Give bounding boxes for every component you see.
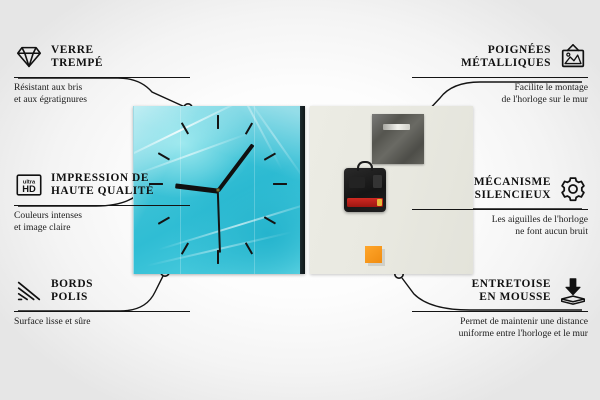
feature-impression-haute-qualite: ultra HD IMPRESSION DE HAUTE QUALITÉ Cou…: [14, 168, 190, 233]
clock-side-edge: [300, 106, 305, 274]
feature-subtitle: Résistant aux bris et aux égratignures: [14, 82, 190, 105]
feature-title: IMPRESSION DE HAUTE QUALITÉ: [51, 172, 154, 198]
bracket-slot: [383, 124, 410, 130]
feature-entretoise-en-mousse: ENTRETOISE EN MOUSSE Permet de maintenir…: [412, 274, 588, 339]
tick-3: [273, 183, 287, 185]
svg-text:HD: HD: [22, 184, 36, 194]
feature-rule: [412, 209, 588, 210]
battery: [347, 198, 383, 207]
diamond-icon: [14, 42, 44, 72]
feature-title: BORDS POLIS: [51, 278, 93, 304]
infographic-canvas: VERRE TREMPÉ Résistant aux bris et aux é…: [0, 0, 600, 400]
feature-rule: [412, 77, 588, 78]
feature-title: VERRE TREMPÉ: [51, 44, 103, 70]
feature-rule: [412, 311, 588, 312]
foam-spacer-arrow-icon: [558, 276, 588, 306]
feature-subtitle: Les aiguilles de l'horloge ne font aucun…: [412, 214, 588, 237]
feature-subtitle: Permet de maintenir une distance uniform…: [412, 316, 588, 339]
foam-spacer: [365, 246, 382, 263]
feature-rule: [14, 205, 190, 206]
feature-bords-polis: BORDS POLIS Surface lisse et sûre: [14, 274, 190, 328]
feature-subtitle: Facilite le montage de l'horloge sur le …: [412, 82, 588, 105]
feature-rule: [14, 77, 190, 78]
gear-icon: [558, 174, 588, 204]
feature-rule: [14, 311, 190, 312]
feature-poignees-metalliques: POIGNÉES MÉTALLIQUES Facilite le montage…: [412, 40, 588, 105]
polished-edge-icon: [14, 276, 44, 306]
battery-terminal: [377, 199, 382, 206]
feature-subtitle: Couleurs intenses et image claire: [14, 210, 190, 233]
feature-subtitle: Surface lisse et sûre: [14, 316, 190, 328]
feature-title: POIGNÉES MÉTALLIQUES: [461, 44, 551, 70]
mechanism-adjust-dial: [373, 175, 382, 188]
ultra-hd-icon: ultra HD: [14, 170, 44, 200]
wall-frame-hanger-icon: [558, 42, 588, 72]
tick-12: [217, 115, 219, 129]
feature-title: MÉCANISME SILENCIEUX: [474, 176, 551, 202]
clock-mechanism: [344, 168, 386, 212]
clock-hub: [216, 188, 220, 192]
metal-hanger-bracket: [372, 114, 424, 164]
mechanism-body-detail: [349, 177, 365, 188]
feature-verre-trempe: VERRE TREMPÉ Résistant aux bris et aux é…: [14, 40, 190, 105]
feature-mecanisme-silencieux: MÉCANISME SILENCIEUX Les aiguilles de l'…: [412, 172, 588, 237]
feature-title: ENTRETOISE EN MOUSSE: [472, 278, 551, 304]
mechanism-hanging-loop: [357, 161, 373, 171]
